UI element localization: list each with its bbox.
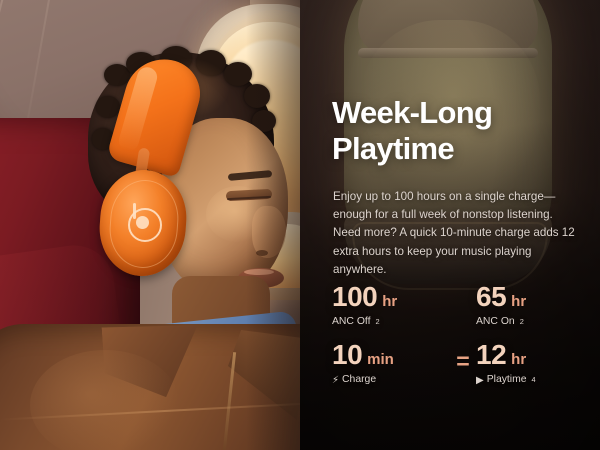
stat-value: 10 min [332, 341, 450, 369]
headline-line-2: Playtime [332, 131, 582, 167]
stat-label: ANC Off 2 [332, 316, 450, 328]
stat-playtime: 12 hr ▶ Playtime 4 [476, 341, 568, 386]
jacket-sheen [30, 350, 180, 450]
beats-logo-dot [136, 216, 149, 229]
stat-label: ⚡ Charge [332, 374, 450, 386]
stat-label-text: ANC On [476, 316, 515, 328]
equals-sign: = [450, 341, 476, 373]
play-triangle-icon: ▶ [476, 376, 484, 386]
stat-footnote: 2 [520, 318, 524, 327]
hero-content: Week-Long Playtime Enjoy up to 100 hours… [300, 0, 600, 450]
stat-value: 12 hr [476, 341, 568, 369]
stat-label-text: Charge [342, 374, 376, 386]
battery-stats-group: 100 hr ANC Off 2 65 hr [332, 283, 586, 387]
lightning-bolt-icon: ⚡ [332, 376, 339, 386]
hair-curl [96, 96, 120, 118]
beats-logo-stem [133, 203, 136, 219]
stat-number: 100 [332, 283, 377, 311]
stat-footnote: 2 [376, 318, 380, 327]
stats-row-battery: 100 hr ANC Off 2 65 hr [332, 283, 586, 328]
stat-value: 65 hr [476, 283, 568, 311]
stat-footnote: 4 [532, 376, 536, 385]
stats-row-fast-charge: 10 min ⚡ Charge = 12 hr [332, 341, 586, 386]
headline-line-1: Week-Long [332, 95, 582, 131]
stat-charge: 10 min ⚡ Charge [332, 341, 450, 386]
stat-unit: hr [511, 294, 526, 309]
stat-number: 10 [332, 341, 362, 369]
hero-banner: Week-Long Playtime Enjoy up to 100 hours… [0, 0, 600, 450]
stat-anc-on: 65 hr ANC On 2 [476, 283, 568, 328]
stat-unit: hr [511, 352, 526, 367]
stat-label: ▶ Playtime 4 [476, 374, 568, 386]
page-title: Week-Long Playtime [332, 95, 582, 167]
stat-label-text: ANC Off [332, 316, 371, 328]
stat-unit: hr [382, 294, 397, 309]
hero-text-panel: Week-Long Playtime Enjoy up to 100 hours… [300, 0, 600, 450]
hero-photo [0, 0, 330, 450]
stat-label-text: Playtime [487, 374, 527, 386]
stat-value: 100 hr [332, 283, 450, 311]
stat-label: ANC On 2 [476, 316, 568, 328]
hero-description: Enjoy up to 100 hours on a single charge… [333, 188, 581, 280]
stat-anc-off: 100 hr ANC Off 2 [332, 283, 450, 328]
stat-number: 12 [476, 341, 506, 369]
stat-unit: min [367, 352, 394, 367]
stat-number: 65 [476, 283, 506, 311]
